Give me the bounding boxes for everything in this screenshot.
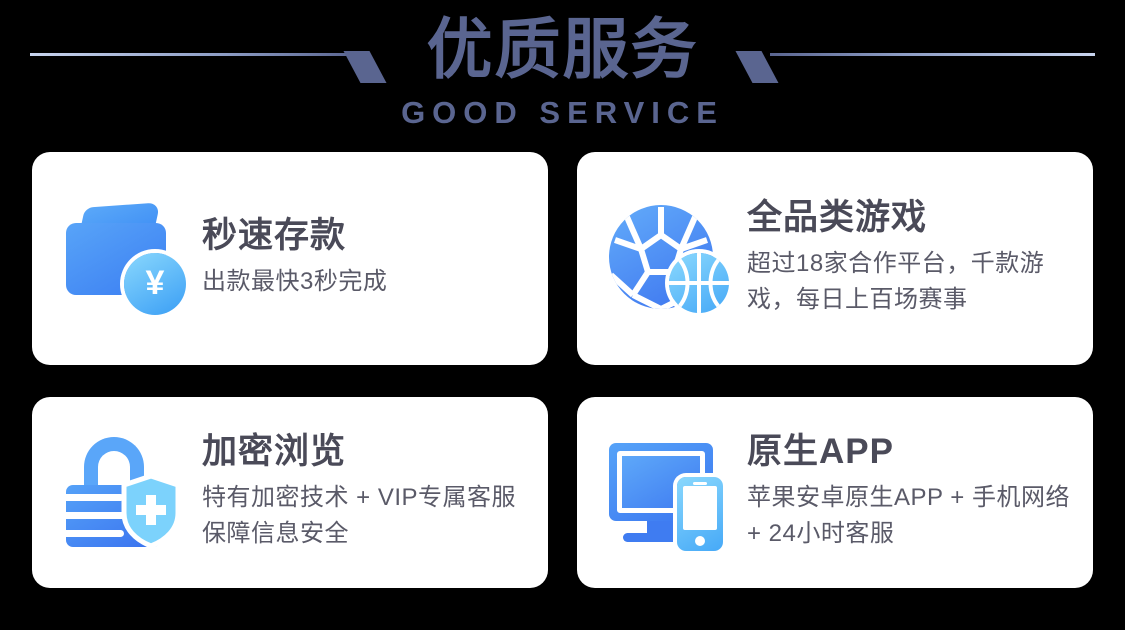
card-title: 秒速存款 bbox=[202, 214, 526, 258]
feature-card-grid: ¥ 秒速存款 出款最快3秒完成 bbox=[32, 152, 1093, 588]
lock-slot bbox=[66, 530, 124, 537]
monitor-phone-icon bbox=[603, 431, 733, 555]
shield-cross-icon bbox=[120, 475, 182, 547]
wallet-coin-icon: ¥ bbox=[58, 197, 188, 321]
card-title: 加密浏览 bbox=[202, 430, 526, 474]
page-root: 优质服务 GOOD SERVICE ¥ 秒速存款 出款最快3秒完成 bbox=[0, 0, 1125, 630]
card-title: 原生APP bbox=[747, 430, 1071, 474]
soccer-basketball-icon bbox=[603, 197, 733, 321]
card-text-block: 秒速存款 出款最快3秒完成 bbox=[188, 214, 526, 304]
page-title-english: GOOD SERVICE bbox=[0, 96, 1125, 130]
page-title-chinese: 优质服务 bbox=[0, 6, 1125, 92]
shield-shape bbox=[120, 475, 182, 547]
yuan-coin-icon: ¥ bbox=[124, 253, 186, 315]
phone-screen bbox=[683, 486, 717, 530]
page-header: 优质服务 GOOD SERVICE bbox=[0, 0, 1125, 146]
feature-card-native-app[interactable]: 原生APP 苹果安卓原生APP + 手机网络 + 24小时客服 bbox=[577, 397, 1093, 588]
card-subtitle: 超过18家合作平台，千款游戏，每日上百场赛事 bbox=[747, 246, 1071, 318]
feature-card-deposit[interactable]: ¥ 秒速存款 出款最快3秒完成 bbox=[32, 152, 548, 365]
card-title: 全品类游戏 bbox=[747, 196, 1071, 240]
phone-home-button bbox=[695, 536, 705, 546]
card-text-block: 原生APP 苹果安卓原生APP + 手机网络 + 24小时客服 bbox=[733, 430, 1071, 556]
phone-speaker bbox=[693, 482, 707, 485]
card-text-block: 加密浏览 特有加密技术 + VIP专属客服保障信息安全 bbox=[188, 430, 526, 556]
feature-card-games[interactable]: 全品类游戏 超过18家合作平台，千款游戏，每日上百场赛事 bbox=[577, 152, 1093, 365]
basketball-icon bbox=[669, 253, 729, 313]
yuan-symbol: ¥ bbox=[146, 266, 165, 300]
card-text-block: 全品类游戏 超过18家合作平台，千款游戏，每日上百场赛事 bbox=[733, 196, 1071, 322]
card-subtitle: 苹果安卓原生APP + 手机网络 + 24小时客服 bbox=[747, 480, 1071, 552]
basketball-lines bbox=[669, 253, 729, 313]
card-subtitle: 出款最快3秒完成 bbox=[202, 264, 526, 300]
feature-card-encryption[interactable]: 加密浏览 特有加密技术 + VIP专属客服保障信息安全 bbox=[32, 397, 548, 588]
card-subtitle: 特有加密技术 + VIP专属客服保障信息安全 bbox=[202, 480, 526, 552]
phone-icon bbox=[677, 477, 723, 551]
lock-shield-icon bbox=[58, 431, 188, 555]
lock-slot bbox=[66, 494, 124, 501]
